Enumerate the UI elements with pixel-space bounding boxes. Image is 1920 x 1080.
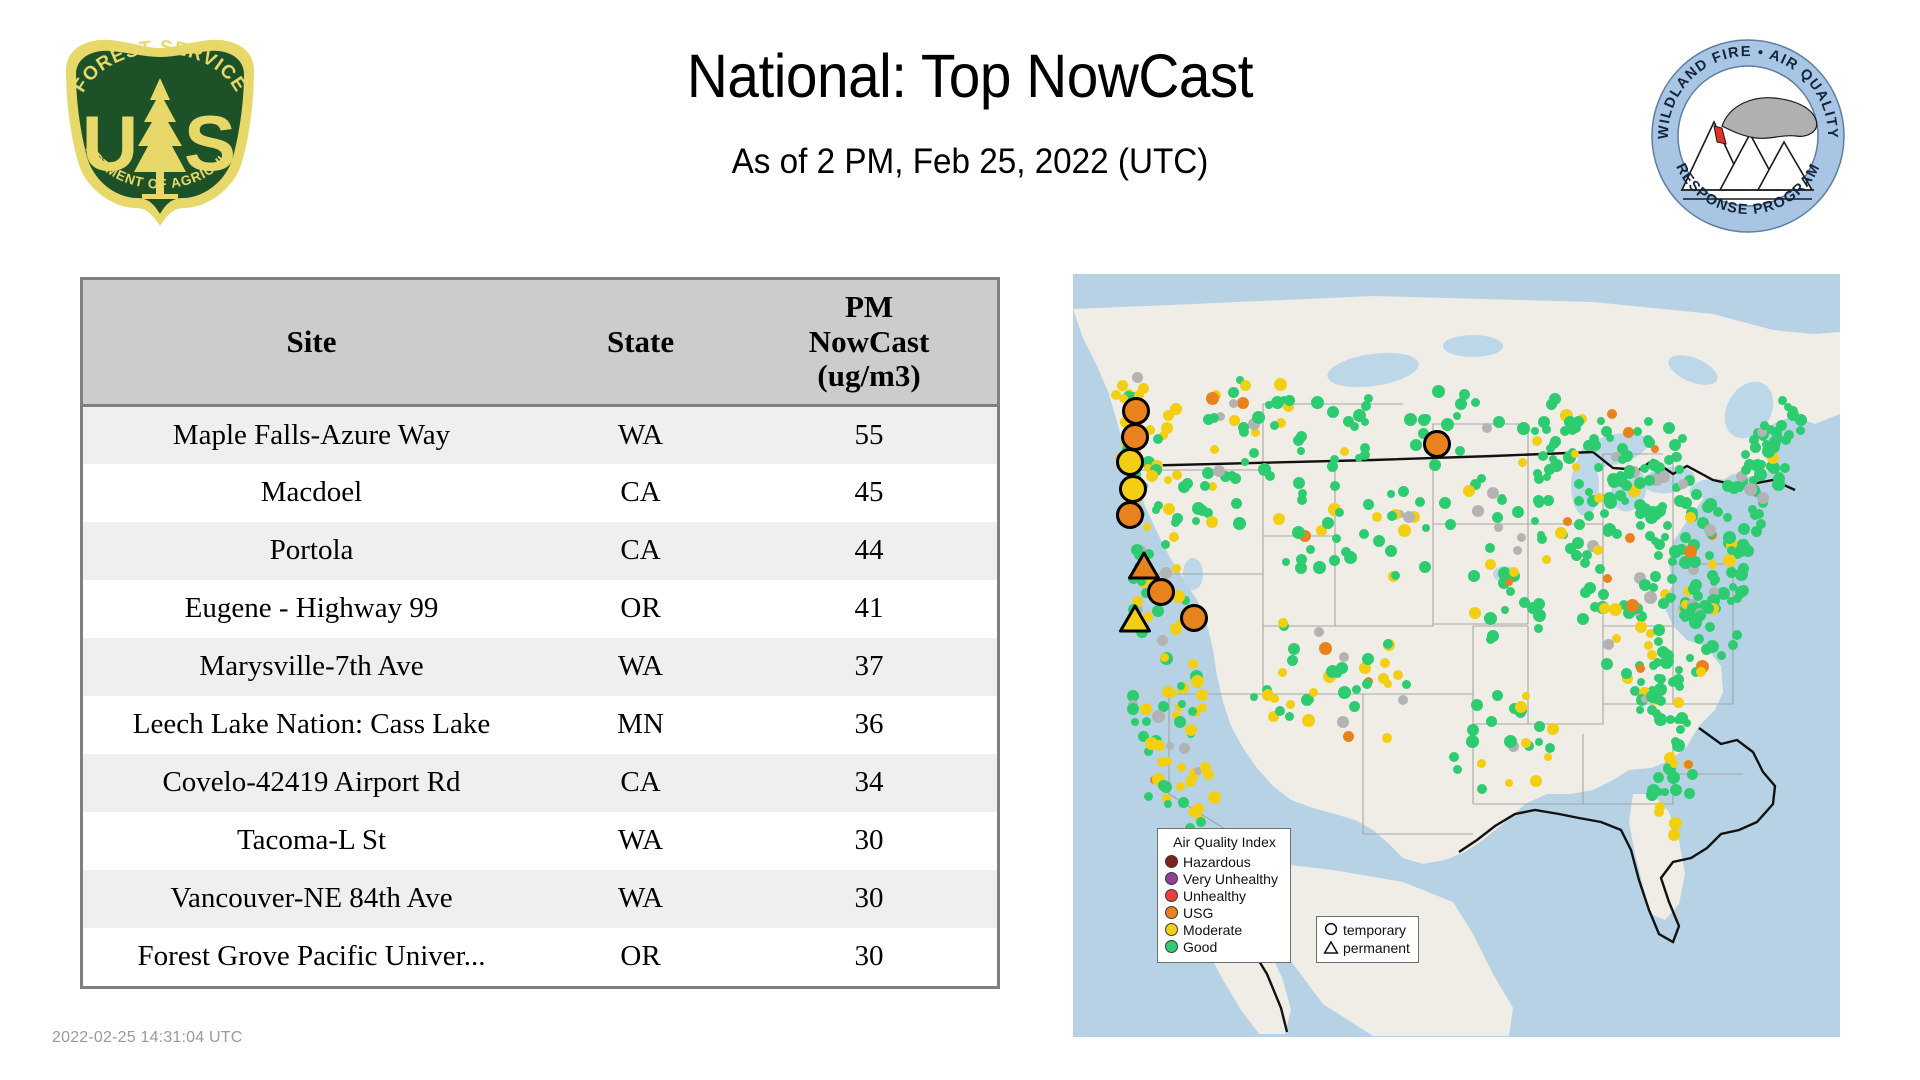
symbol-legend-label-permanent: permanent	[1343, 940, 1410, 956]
monitor-dot[interactable]	[1534, 498, 1544, 508]
monitor-dot[interactable]	[1164, 476, 1172, 484]
cell-pm-nowcast: 30	[741, 928, 997, 986]
monitor-dot[interactable]	[1455, 446, 1465, 456]
aqi-legend-label: USG	[1183, 905, 1213, 921]
monitor-dot[interactable]	[1359, 529, 1369, 539]
column-header-pm-line3: (ug/m3)	[745, 359, 993, 394]
monitor-dot[interactable]	[1228, 387, 1239, 398]
monitor-dot[interactable]	[1506, 587, 1515, 596]
monitor-dot[interactable]	[1533, 609, 1546, 622]
monitor-dot[interactable]	[1398, 695, 1408, 705]
table-row[interactable]: Forest Grove Pacific Univer...OR30	[83, 928, 997, 986]
monitor-dot[interactable]	[1172, 470, 1182, 480]
cell-site: Maple Falls-Azure Way	[83, 406, 540, 464]
monitor-dot[interactable]	[1675, 465, 1684, 474]
monitor-dot[interactable]	[1563, 517, 1572, 526]
top-site-marker-temporary[interactable]	[1147, 578, 1175, 606]
monitor-dot[interactable]	[1585, 488, 1593, 496]
monitor-dot[interactable]	[1287, 655, 1298, 666]
monitor-dot[interactable]	[1689, 616, 1702, 629]
monitor-dot[interactable]	[1710, 575, 1719, 584]
monitor-dot[interactable]	[1574, 519, 1585, 530]
page-title: National: Top NowCast	[366, 44, 1575, 108]
monitor-dot[interactable]	[1615, 475, 1627, 487]
title-block: National: Top NowCast As of 2 PM, Feb 25…	[320, 44, 1620, 182]
column-header-state[interactable]: State	[540, 280, 741, 406]
monitor-dot[interactable]	[1477, 759, 1486, 768]
monitor-dot[interactable]	[1398, 524, 1411, 537]
monitor-dot[interactable]	[1402, 680, 1411, 689]
table-row[interactable]: PortolaCA44	[83, 522, 997, 580]
top-site-marker-permanent[interactable]	[1118, 603, 1152, 634]
monitor-dot[interactable]	[1498, 494, 1506, 502]
monitor-dot[interactable]	[1482, 423, 1492, 433]
monitor-dot[interactable]	[1422, 524, 1430, 532]
monitor-dot[interactable]	[1404, 413, 1417, 426]
top-nowcast-table-container: Site State PM NowCast (ug/m3) Maple Fall…	[80, 277, 1000, 989]
monitor-dot[interactable]	[1249, 448, 1259, 458]
monitor-dot[interactable]	[1337, 716, 1349, 728]
monitor-dot[interactable]	[1598, 589, 1609, 600]
monitor-dot[interactable]	[1577, 613, 1589, 625]
monitor-dot[interactable]	[1344, 551, 1357, 564]
monitor-dot[interactable]	[1574, 496, 1584, 506]
monitor-dot[interactable]	[1387, 490, 1395, 498]
monitor-dot[interactable]	[1463, 485, 1475, 497]
aqi-legend-row: Hazardous	[1165, 853, 1284, 870]
monitor-dot[interactable]	[1419, 561, 1431, 573]
cell-state: WA	[540, 812, 741, 870]
top-site-marker-temporary[interactable]	[1119, 475, 1147, 503]
monitor-dot[interactable]	[1178, 700, 1186, 708]
cell-pm-nowcast: 41	[741, 580, 997, 638]
monitor-dot[interactable]	[1372, 512, 1382, 522]
monitor-dot[interactable]	[1410, 439, 1422, 451]
column-header-pm-line2: NowCast	[745, 325, 993, 360]
monitor-dot[interactable]	[1208, 791, 1221, 804]
top-site-marker-permanent[interactable]	[1127, 550, 1161, 581]
cell-state: MN	[540, 696, 741, 754]
monitor-dot[interactable]	[1684, 545, 1697, 558]
cell-site: Leech Lake Nation: Cass Lake	[83, 696, 540, 754]
top-site-marker-temporary[interactable]	[1116, 501, 1144, 529]
monitor-dot[interactable]	[1702, 501, 1714, 513]
monitor-dot[interactable]	[1383, 639, 1393, 649]
monitor-dot[interactable]	[1144, 792, 1153, 801]
monitor-dot[interactable]	[1778, 396, 1787, 405]
monitor-dot[interactable]	[1471, 398, 1480, 407]
monitor-dot[interactable]	[1311, 396, 1324, 409]
monitor-dot[interactable]	[1648, 459, 1660, 471]
top-site-marker-temporary[interactable]	[1121, 423, 1149, 451]
monitor-dot[interactable]	[1686, 654, 1694, 662]
monitor-dot[interactable]	[1298, 489, 1307, 498]
monitor-dot[interactable]	[1343, 731, 1354, 742]
monitor-dot[interactable]	[1200, 481, 1210, 491]
monitor-dot[interactable]	[1538, 451, 1548, 461]
cell-state: WA	[540, 870, 741, 928]
monitor-dot[interactable]	[1618, 455, 1627, 464]
monitor-dot[interactable]	[1455, 398, 1467, 410]
monitor-dot[interactable]	[1534, 624, 1543, 633]
monitor-dot[interactable]	[1751, 459, 1764, 472]
aqi-legend-swatch-icon	[1165, 855, 1178, 868]
monitor-dot[interactable]	[1177, 763, 1186, 772]
top-nowcast-table: Site State PM NowCast (ug/m3) Maple Fall…	[83, 280, 997, 986]
monitor-dot[interactable]	[1385, 545, 1397, 557]
monitor-dot[interactable]	[1571, 450, 1579, 458]
monitor-dot[interactable]	[1270, 421, 1279, 430]
monitor-dot[interactable]	[1472, 505, 1484, 517]
monitor-dot[interactable]	[1262, 689, 1274, 701]
cell-pm-nowcast: 30	[741, 870, 997, 928]
monitor-dot[interactable]	[1487, 630, 1499, 642]
monitor-dot[interactable]	[1535, 738, 1543, 746]
monitor-dot[interactable]	[1639, 579, 1651, 591]
page-header: FOREST SERVICE U S DEPARTMENT OF AGRICUL…	[0, 0, 1920, 260]
table-header-row: Site State PM NowCast (ug/m3)	[83, 280, 997, 406]
aqi-legend-swatch-icon	[1165, 889, 1178, 902]
monitor-dot[interactable]	[1669, 817, 1682, 830]
monitor-dot[interactable]	[1382, 733, 1392, 743]
monitor-dot[interactable]	[1200, 762, 1211, 773]
monitor-dot[interactable]	[1647, 784, 1660, 797]
monitor-dot[interactable]	[1293, 477, 1305, 489]
cell-pm-nowcast: 30	[741, 812, 997, 870]
monitor-dot[interactable]	[1237, 397, 1249, 409]
monitor-dot[interactable]	[1644, 591, 1657, 604]
monitor-dot[interactable]	[1776, 420, 1787, 431]
cell-state: CA	[540, 522, 741, 580]
circle-outline-icon	[1323, 922, 1339, 938]
monitor-dot[interactable]	[1329, 555, 1340, 566]
top-site-marker-temporary[interactable]	[1423, 430, 1451, 458]
monitor-dot[interactable]	[1422, 414, 1431, 423]
monitor-dot[interactable]	[1196, 817, 1206, 827]
table-row[interactable]: Eugene - Highway 99OR41	[83, 580, 997, 638]
monitor-dot[interactable]	[1339, 652, 1349, 662]
monitor-dot[interactable]	[1521, 738, 1531, 748]
aqi-legend-label: Hazardous	[1183, 854, 1251, 870]
cell-pm-nowcast: 45	[741, 464, 997, 522]
aqi-legend-rows: HazardousVery UnhealthyUnhealthyUSGModer…	[1165, 853, 1284, 955]
table-row[interactable]: Leech Lake Nation: Cass LakeMN36	[83, 696, 997, 754]
monitor-dot[interactable]	[1654, 551, 1663, 560]
monitor-dot[interactable]	[1466, 735, 1479, 748]
monitor-dot[interactable]	[1338, 686, 1351, 699]
column-header-pm-line1: PM	[745, 290, 993, 325]
monitor-dot[interactable]	[1623, 427, 1634, 438]
monitor-dot[interactable]	[1530, 775, 1542, 787]
monitor-dot[interactable]	[1594, 463, 1603, 472]
monitor-dot[interactable]	[1673, 697, 1684, 708]
cell-state: OR	[540, 928, 741, 986]
footer-timestamp: 2022-02-25 14:31:04 UTC	[52, 1029, 243, 1047]
monitor-dot[interactable]	[1439, 497, 1451, 509]
monitor-dot[interactable]	[1555, 527, 1567, 539]
monitor-dot[interactable]	[1603, 523, 1616, 536]
table-row[interactable]: MacdoelCA45	[83, 464, 997, 522]
aqi-legend-swatch-icon	[1165, 906, 1178, 919]
cell-pm-nowcast: 44	[741, 522, 997, 580]
cell-pm-nowcast: 34	[741, 754, 997, 812]
monitor-dot[interactable]	[1330, 455, 1339, 464]
monitor-dot[interactable]	[1152, 506, 1160, 514]
monitor-dot[interactable]	[1532, 436, 1542, 446]
aqi-legend-title: Air Quality Index	[1165, 834, 1284, 850]
monitor-dot[interactable]	[1600, 509, 1609, 518]
cell-pm-nowcast: 37	[741, 638, 997, 696]
monitor-dot[interactable]	[1533, 598, 1545, 610]
monitor-dot[interactable]	[1574, 479, 1584, 489]
monitor-dot[interactable]	[1663, 422, 1675, 434]
cell-pm-nowcast: 36	[741, 696, 997, 754]
monitor-dot[interactable]	[1157, 635, 1168, 646]
monitor-dot[interactable]	[1429, 459, 1441, 471]
cell-state: CA	[540, 464, 741, 522]
aqi-legend-label: Moderate	[1183, 922, 1242, 938]
monitor-dot[interactable]	[1172, 564, 1181, 573]
monitor-dot[interactable]	[1678, 434, 1687, 443]
monitor-dot[interactable]	[1687, 769, 1698, 780]
monitor-dot[interactable]	[1485, 543, 1495, 553]
top-site-marker-temporary[interactable]	[1122, 397, 1150, 425]
top-site-marker-temporary[interactable]	[1116, 448, 1144, 476]
monitor-dot[interactable]	[1522, 692, 1530, 700]
aqi-legend-row: Good	[1165, 938, 1284, 955]
monitor-dot[interactable]	[1723, 554, 1736, 567]
monitor-dot[interactable]	[1117, 380, 1128, 391]
monitor-dot[interactable]	[1494, 523, 1503, 532]
monitor-dot[interactable]	[1704, 524, 1716, 536]
cell-site: Eugene - Highway 99	[83, 580, 540, 638]
monitor-dot[interactable]	[1140, 703, 1152, 715]
monitor-dot[interactable]	[1684, 760, 1693, 769]
monitor-dot[interactable]	[1152, 710, 1165, 723]
monitor-dot[interactable]	[1667, 771, 1680, 784]
monitor-dot[interactable]	[1653, 658, 1662, 667]
monitor-dot[interactable]	[1543, 473, 1551, 481]
monitor-dot[interactable]	[1171, 518, 1180, 527]
monitor-dot[interactable]	[1314, 627, 1324, 637]
table-row[interactable]: Vancouver-NE 84th AveWA30	[83, 870, 997, 928]
aqi-legend-swatch-icon	[1165, 872, 1178, 885]
monitor-dot[interactable]	[1335, 508, 1344, 517]
cell-site: Portola	[83, 522, 540, 580]
cell-site: Covelo-42419 Airport Rd	[83, 754, 540, 812]
aqi-legend-swatch-icon	[1165, 940, 1178, 953]
monitor-dot[interactable]	[1708, 560, 1717, 569]
cell-state: WA	[540, 638, 741, 696]
cell-state: CA	[540, 754, 741, 812]
monitor-dot[interactable]	[1352, 685, 1361, 694]
monitor-dot[interactable]	[1517, 533, 1526, 542]
monitor-dot[interactable]	[1160, 653, 1169, 662]
page-subtitle: As of 2 PM, Feb 25, 2022 (UTC)	[353, 142, 1588, 182]
monitor-dot[interactable]	[1543, 495, 1554, 506]
aqi-legend: Air Quality Index HazardousVery Unhealth…	[1157, 828, 1291, 963]
monitor-dot[interactable]	[1333, 669, 1342, 678]
monitor-dot[interactable]	[1675, 666, 1683, 674]
monitor-dot[interactable]	[1676, 715, 1684, 723]
monitor-dot[interactable]	[1727, 546, 1736, 555]
aqi-legend-swatch-icon	[1165, 923, 1178, 936]
table-row[interactable]: Covelo-42419 Airport RdCA34	[83, 754, 997, 812]
monitor-dot[interactable]	[1664, 455, 1674, 465]
monitor-dot[interactable]	[1153, 434, 1163, 444]
symbol-legend-row-temporary: temporary	[1323, 921, 1413, 939]
monitor-dot[interactable]	[1210, 445, 1219, 454]
monitor-dot[interactable]	[1206, 392, 1219, 405]
monitor-dot[interactable]	[1362, 679, 1372, 689]
monitor-dot[interactable]	[1664, 752, 1676, 764]
table-row[interactable]: Maple Falls-Azure WayWA55	[83, 406, 997, 464]
monitor-dot[interactable]	[1163, 410, 1174, 421]
monitor-dot[interactable]	[1309, 688, 1318, 697]
aqi-legend-row: Unhealthy	[1165, 887, 1284, 904]
aqi-legend-label: Unhealthy	[1183, 888, 1246, 904]
triangle-outline-icon	[1323, 940, 1339, 956]
monitor-dot[interactable]	[1492, 690, 1503, 701]
aqi-legend-row: Moderate	[1165, 921, 1284, 938]
monitor-dot[interactable]	[1252, 411, 1265, 424]
monitor-dot[interactable]	[1636, 706, 1644, 714]
monitor-dot[interactable]	[1206, 516, 1218, 528]
monitor-dot[interactable]	[1732, 630, 1742, 640]
monitor-dot[interactable]	[1302, 714, 1315, 727]
symbol-legend: temporary permanent	[1316, 916, 1419, 963]
wildland-fire-air-quality-seal-logo: WILDLAND FIRE • AIR QUALITY RESPONSE PRO…	[1650, 38, 1846, 234]
monitor-dot[interactable]	[1487, 487, 1499, 499]
table-header: Site State PM NowCast (ug/m3)	[83, 280, 997, 406]
monitor-dot[interactable]	[1471, 699, 1483, 711]
monitor-dot[interactable]	[1296, 431, 1307, 442]
monitor-dot[interactable]	[1644, 417, 1653, 426]
monitor-dot[interactable]	[1533, 469, 1542, 478]
monitor-dot[interactable]	[1169, 689, 1177, 697]
monitor-dot[interactable]	[1668, 829, 1680, 841]
monitor-dot[interactable]	[1360, 443, 1370, 453]
cell-state: WA	[540, 406, 741, 464]
monitor-dot[interactable]	[1681, 614, 1689, 622]
monitor-dot[interactable]	[1594, 493, 1604, 503]
monitor-dot[interactable]	[1146, 470, 1158, 482]
monitor-dot[interactable]	[1653, 624, 1665, 636]
monitor-dot[interactable]	[1634, 477, 1646, 489]
monitor-dot[interactable]	[1531, 427, 1539, 435]
aqi-legend-row: USG	[1165, 904, 1284, 921]
monitor-dot[interactable]	[1781, 435, 1791, 445]
monitor-dot[interactable]	[1748, 505, 1757, 514]
table-body: Maple Falls-Azure WayWA55MacdoelCA45Port…	[83, 406, 997, 986]
monitor-dot[interactable]	[1501, 606, 1509, 614]
column-header-pm-nowcast[interactable]: PM NowCast (ug/m3)	[741, 280, 997, 406]
monitor-dot[interactable]	[1636, 521, 1645, 530]
monitor-dot[interactable]	[1744, 483, 1757, 496]
monitor-dot[interactable]	[1795, 414, 1807, 426]
monitor-dot[interactable]	[1607, 409, 1617, 419]
monitor-dot[interactable]	[1595, 564, 1605, 574]
monitor-dot[interactable]	[1145, 737, 1158, 750]
monitor-dot[interactable]	[1727, 597, 1735, 605]
monitor-dot[interactable]	[1537, 534, 1547, 544]
monitor-dot[interactable]	[1738, 523, 1750, 535]
monitor-dot[interactable]	[1415, 497, 1425, 507]
monitor-dot[interactable]	[1603, 639, 1614, 650]
monitor-dot[interactable]	[1739, 539, 1749, 549]
monitor-dot[interactable]	[1297, 447, 1305, 455]
column-header-site[interactable]: Site	[83, 280, 540, 406]
monitor-dot[interactable]	[1361, 418, 1369, 426]
cell-site: Macdoel	[83, 464, 540, 522]
monitor-dot[interactable]	[1593, 545, 1603, 555]
monitor-dot[interactable]	[1493, 416, 1505, 428]
monitor-dot[interactable]	[1198, 703, 1207, 712]
monitor-dot[interactable]	[1672, 739, 1685, 752]
monitor-dot[interactable]	[1166, 742, 1174, 750]
aqi-legend-row: Very Unhealthy	[1165, 870, 1284, 887]
monitor-dot[interactable]	[1609, 603, 1622, 616]
monitor-dot[interactable]	[1393, 670, 1403, 680]
monitor-dot[interactable]	[1274, 378, 1287, 391]
monitor-dot[interactable]	[1670, 784, 1682, 796]
monitor-dot[interactable]	[1705, 622, 1715, 632]
monitor-dot[interactable]	[1160, 781, 1172, 793]
monitor-dot[interactable]	[1185, 724, 1197, 736]
cell-site: Vancouver-NE 84th Ave	[83, 870, 540, 928]
monitor-dot[interactable]	[1750, 442, 1761, 453]
monitor-dot[interactable]	[1380, 658, 1390, 668]
monitor-dot[interactable]	[1684, 788, 1695, 799]
monitor-dot[interactable]	[1760, 421, 1769, 430]
top-site-marker-temporary[interactable]	[1180, 604, 1208, 632]
monitor-dot[interactable]	[1230, 473, 1241, 484]
monitor-dot[interactable]	[1486, 716, 1497, 727]
monitor-dot[interactable]	[1132, 372, 1143, 383]
monitor-dot[interactable]	[1517, 422, 1530, 435]
monitor-dot[interactable]	[1403, 511, 1415, 523]
monitor-dot[interactable]	[1650, 508, 1662, 520]
monitor-dot[interactable]	[1468, 570, 1480, 582]
cell-pm-nowcast: 55	[741, 406, 997, 464]
monitor-dot[interactable]	[1361, 401, 1371, 411]
table-row[interactable]: Marysville-7th AveWA37	[83, 638, 997, 696]
monitor-dot[interactable]	[1313, 561, 1326, 574]
aqi-legend-label: Good	[1183, 939, 1217, 955]
symbol-legend-row-permanent: permanent	[1323, 939, 1413, 957]
monitor-dot[interactable]	[1233, 517, 1246, 530]
monitor-dot[interactable]	[1477, 784, 1487, 794]
monitor-dot[interactable]	[1192, 803, 1204, 815]
monitor-dot[interactable]	[1625, 533, 1635, 543]
monitor-dot[interactable]	[1178, 797, 1189, 808]
cell-site: Forest Grove Pacific Univer...	[83, 928, 540, 986]
monitor-dot[interactable]	[1349, 701, 1360, 712]
monitor-dot[interactable]	[1666, 715, 1675, 724]
monitor-dot[interactable]	[1654, 637, 1663, 646]
symbol-legend-label-temporary: temporary	[1343, 922, 1406, 938]
table-row[interactable]: Tacoma-L StWA30	[83, 812, 997, 870]
monitor-dot[interactable]	[1550, 436, 1561, 447]
aqi-legend-label: Very Unhealthy	[1183, 871, 1278, 887]
monitor-dot[interactable]	[1545, 743, 1555, 753]
monitor-dot[interactable]	[1278, 668, 1287, 677]
monitor-dot[interactable]	[1192, 517, 1200, 525]
monitor-dot[interactable]	[1519, 597, 1530, 608]
monitor-dot[interactable]	[1713, 507, 1723, 517]
monitor-dot[interactable]	[1584, 511, 1594, 521]
monitor-dot[interactable]	[1387, 511, 1397, 521]
